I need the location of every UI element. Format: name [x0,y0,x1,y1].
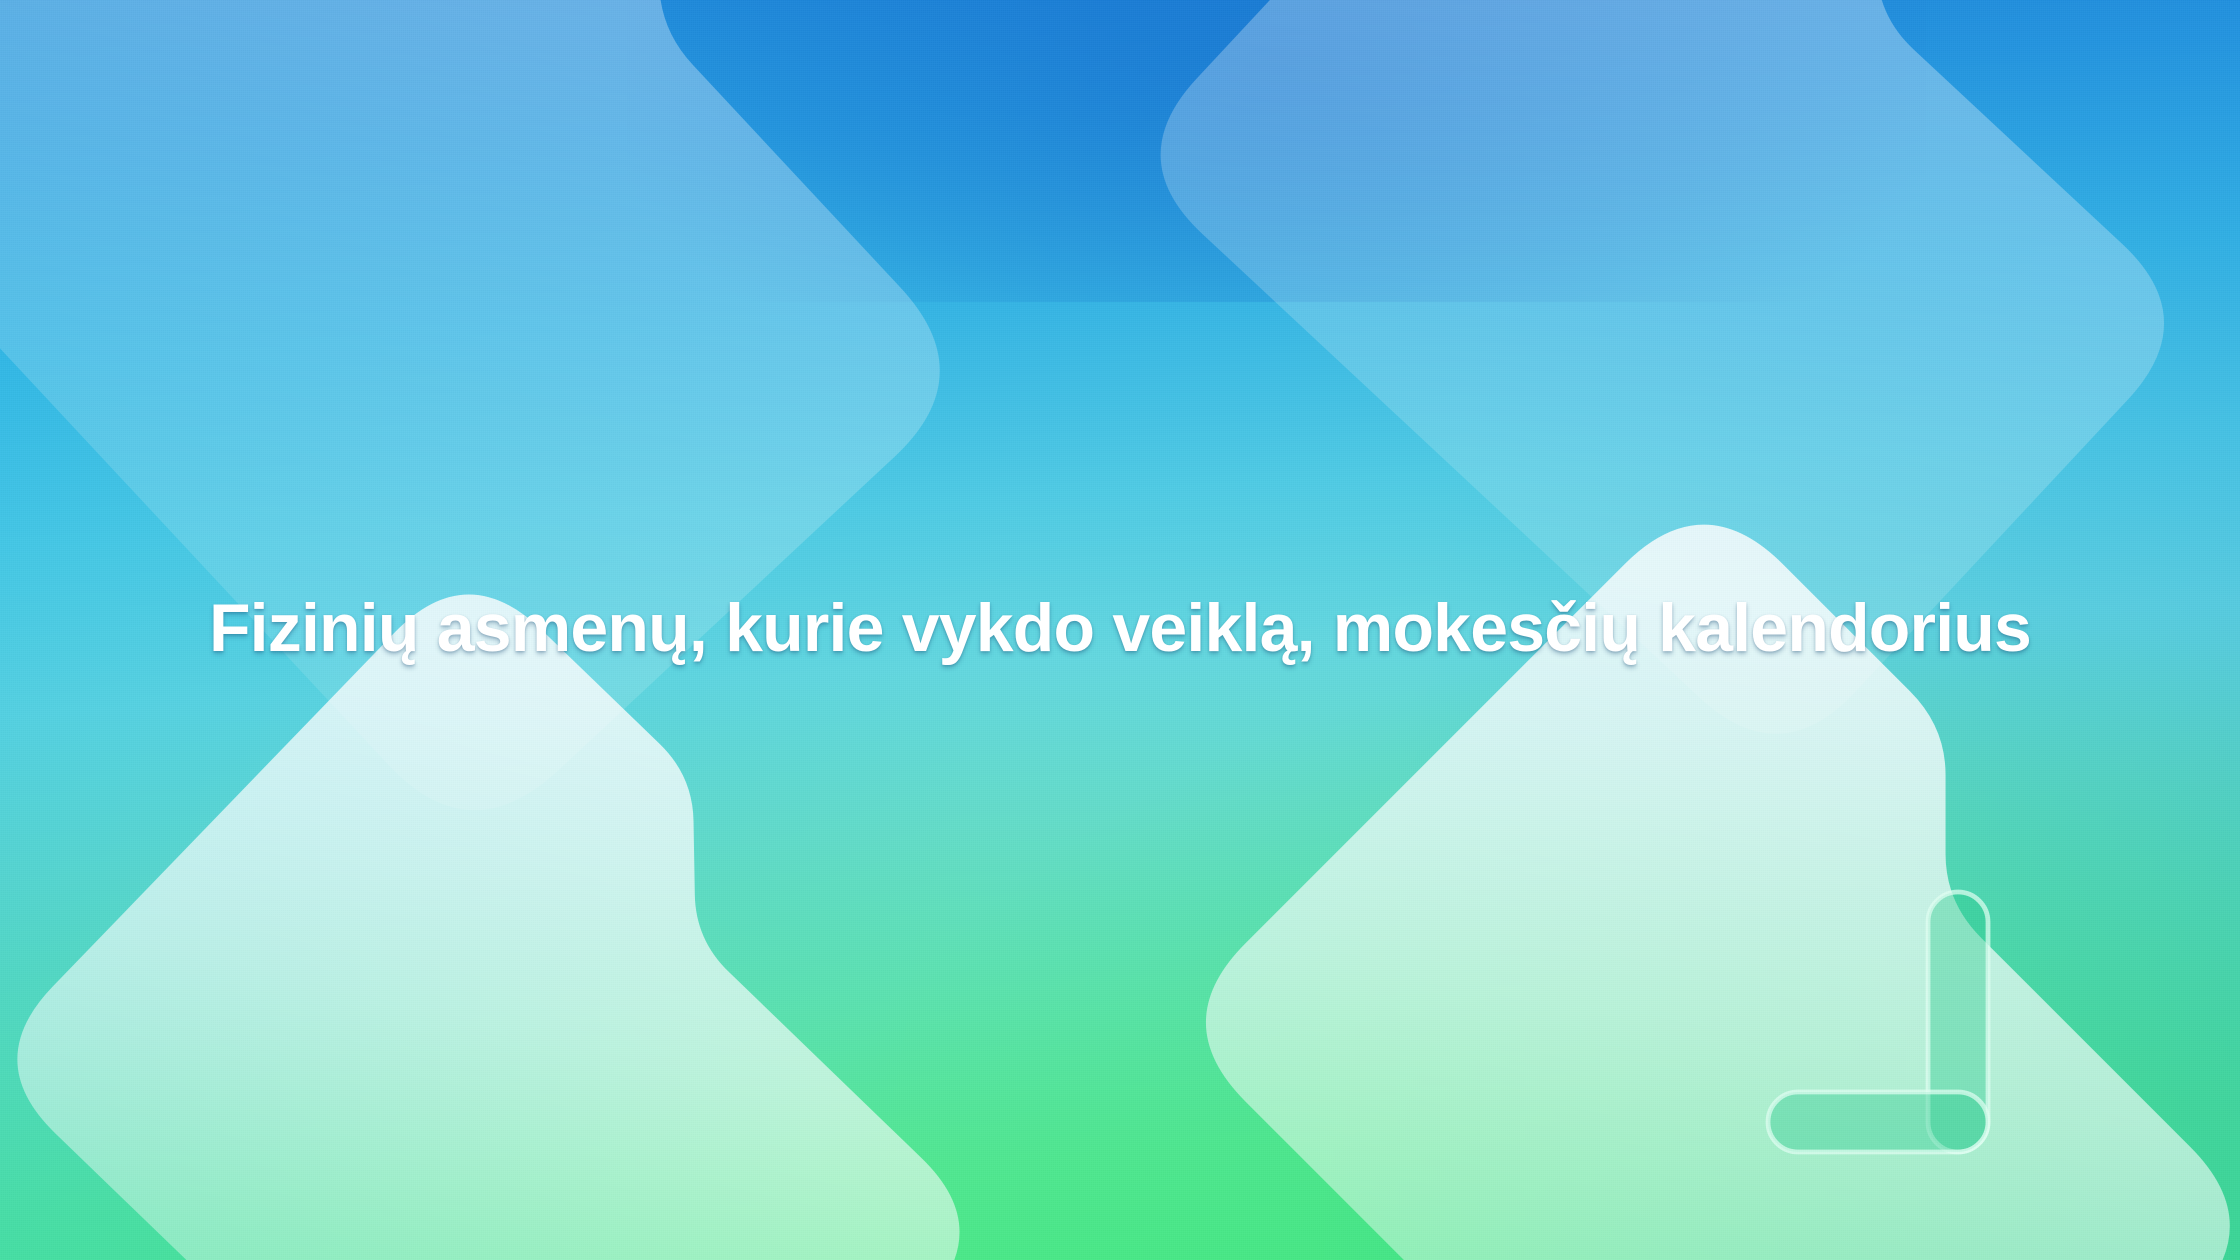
banner-canvas: Fizinių asmenų, kurie vykdo veiklą, moke… [0,0,2240,1260]
title-container: Fizinių asmenų, kurie vykdo veiklą, moke… [0,0,2240,1260]
page-title: Fizinių asmenų, kurie vykdo veiklą, moke… [209,591,2031,666]
